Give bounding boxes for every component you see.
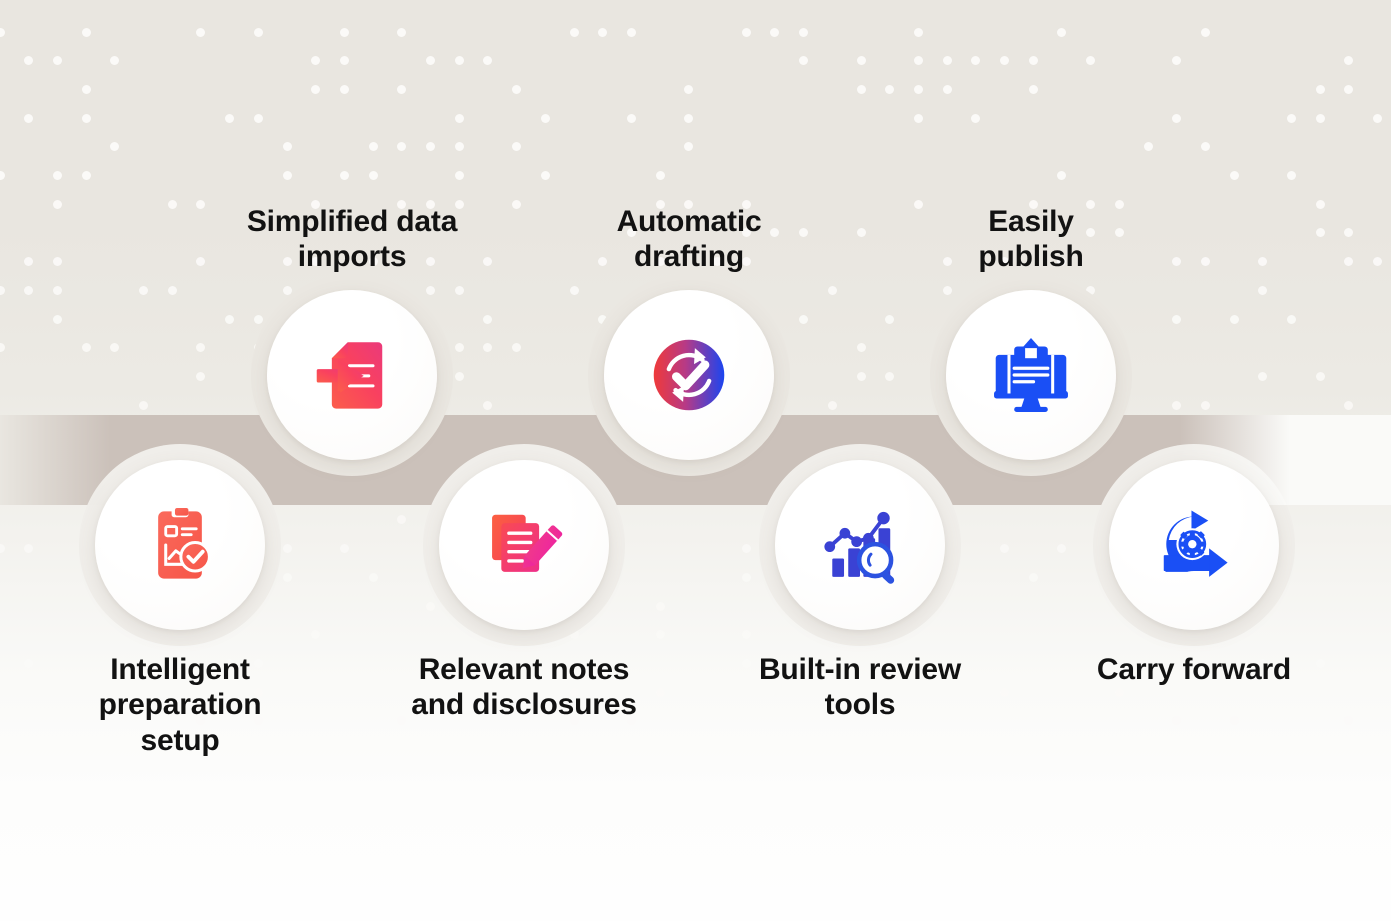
step-icon-circle[interactable] — [775, 460, 945, 630]
step-label: Intelligent preparation setup — [55, 652, 305, 758]
step-icon-circle[interactable] — [604, 290, 774, 460]
bar-chart-magnifier-icon-svg — [818, 503, 902, 587]
workflow-step[interactable] — [604, 290, 774, 460]
step-icon-circle[interactable] — [1109, 460, 1279, 630]
workflow-step[interactable] — [1109, 460, 1279, 630]
workflow-step[interactable] — [775, 460, 945, 630]
cycle-gear-forward-arrow-icon-svg — [1152, 503, 1236, 587]
step-label: Easily publish — [906, 204, 1156, 275]
step-label: Built-in review tools — [735, 652, 985, 723]
step-icon-circle[interactable] — [439, 460, 609, 630]
workflow-step[interactable] — [267, 290, 437, 460]
step-icon-circle[interactable] — [95, 460, 265, 630]
workflow-step[interactable] — [95, 460, 265, 630]
step-label: Relevant notes and disclosures — [399, 652, 649, 723]
clipboard-chart-check-icon-svg — [138, 503, 222, 587]
workflow-infographic: Intelligent preparation setup Simplified… — [0, 0, 1391, 921]
monitor-upload-publish-icon-svg — [989, 333, 1073, 417]
workflow-step[interactable] — [946, 290, 1116, 460]
step-icon-circle[interactable] — [267, 290, 437, 460]
document-import-arrow-icon-svg — [310, 333, 394, 417]
refresh-check-circle-icon-svg — [647, 333, 731, 417]
step-label: Automatic drafting — [564, 204, 814, 275]
workflow-step[interactable] — [439, 460, 609, 630]
documents-pencil-edit-icon-svg — [482, 503, 566, 587]
step-icon-circle[interactable] — [946, 290, 1116, 460]
step-label: Simplified data imports — [227, 204, 477, 275]
step-label: Carry forward — [1069, 652, 1319, 687]
